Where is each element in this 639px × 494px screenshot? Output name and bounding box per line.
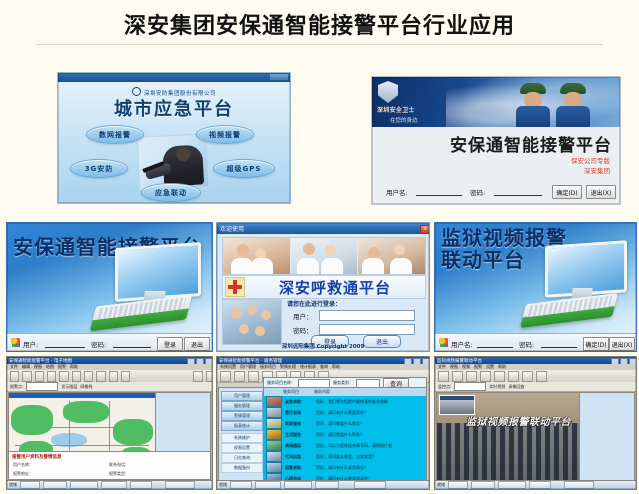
gis-titlebar: 安保通智能接警平台 - 电子地图 xyxy=(7,357,213,364)
photo-family xyxy=(222,299,282,345)
map-green-area xyxy=(113,419,153,445)
abt-splash-login-button[interactable]: 登录 xyxy=(157,337,183,351)
jv-thumbnail[interactable] xyxy=(439,395,475,415)
jv-status-text: 就绪 xyxy=(437,482,445,488)
jv-statusbar: 就绪 xyxy=(435,480,637,489)
keyboard-illustration xyxy=(520,293,618,328)
srv-titlebar: 安保通智能接警平台 - 服务管理 xyxy=(217,357,430,364)
abt-password-label: 密码: xyxy=(470,187,485,197)
toolbar-alarm-icon[interactable] xyxy=(536,371,547,382)
toolbar-open-icon[interactable] xyxy=(10,371,19,382)
panel-gis-map-app: 安保通智能接警平台 - 电子地图 文件 编辑 视图 地图 报警 帮助 报警 xyxy=(6,356,213,490)
toolbar-locate-icon[interactable] xyxy=(96,371,105,382)
abt-username-input[interactable] xyxy=(416,186,462,196)
gis-field-label: 报警点: xyxy=(10,384,23,390)
toolbar-zoom-out-icon[interactable] xyxy=(59,371,68,382)
row-desc: 您好，请问需要什么服务？ xyxy=(316,421,426,427)
title-divider xyxy=(36,44,603,45)
toolbar-layers-icon[interactable] xyxy=(109,371,118,382)
jv-point-input[interactable] xyxy=(454,382,486,391)
taskbar-item[interactable] xyxy=(130,481,152,489)
row-thumbnail xyxy=(266,396,282,407)
row-thumbnail xyxy=(266,429,282,440)
slide-root: 深安集团安保通智能接警平台行业应用 深圳安防集团股份有限公司 城市应急平台 数网… xyxy=(0,0,639,494)
toolbar-save-icon[interactable] xyxy=(452,371,463,382)
help-login-box: 请您在此进行登录： 用户： 密码： 登录 退出 xyxy=(283,299,424,343)
jail-ok-button[interactable]: 确定(D) xyxy=(583,337,609,351)
jail-exit-button[interactable]: 退出(X) xyxy=(609,337,635,351)
city-window-titlebar xyxy=(58,73,290,82)
help-footer-copyright: 深圳远阳集团 Copyright 2009 xyxy=(217,342,429,350)
abt-edition-label: 保安公司专版 xyxy=(571,155,610,165)
srv-service-list[interactable]: 服务项目 服务内容 紧急求助您好，我们将为您提供最快速的紧急救助 医疗咨询您好，… xyxy=(263,387,427,481)
panel-city-emergency-platform: 深圳安防集团股份有限公司 城市应急平台 数网报警 视频报警 3G安防 超级GPS… xyxy=(57,72,291,204)
help-user-input[interactable] xyxy=(319,310,415,321)
help-password-input[interactable] xyxy=(319,324,415,335)
srv-col-name: 服务项目 xyxy=(283,389,311,395)
row-name: 生活服务 xyxy=(285,432,313,438)
taskbar-item[interactable] xyxy=(20,481,40,489)
taskbar-item[interactable] xyxy=(70,481,98,489)
city-button-video-alarm[interactable]: 视频报警 xyxy=(196,125,254,144)
toolbar-save-icon[interactable] xyxy=(22,371,31,382)
abt-splash-user-input[interactable] xyxy=(45,338,85,348)
photo-elderly-couple xyxy=(223,238,290,274)
gis-checkbox-layers[interactable]: 显示图层 xyxy=(61,384,77,390)
abt-brand-logo: 深圳安全卫士 xyxy=(377,105,415,114)
city-button-network-alarm[interactable]: 数网报警 xyxy=(86,125,144,144)
help-brand-title: 深安呼救通平台 xyxy=(245,277,425,298)
help-brand-row: 深安呼救通平台 xyxy=(222,275,426,299)
taskbar-item[interactable] xyxy=(529,481,551,489)
toolbar-measure-icon[interactable] xyxy=(84,371,93,382)
row-thumbnail xyxy=(266,418,282,429)
jv-side-panel[interactable] xyxy=(579,392,635,482)
panel-abt-login: 深圳安全卫士 在您的身边 安保通智能接警平台 保安公司专版 深安集团 用户名: … xyxy=(371,76,621,205)
page-title: 深安集团安保通智能接警平台行业应用 xyxy=(0,8,639,40)
row-name: 亲情通话 xyxy=(285,443,313,449)
toolbar-record-icon[interactable] xyxy=(494,371,505,382)
row-name: 紧急求助 xyxy=(285,399,313,405)
gis-info-panel: 报警用户资料及警情信息 用户名称： 联系电话： 报警地址： 报警类型： xyxy=(8,451,211,480)
jv-filter-bar[interactable]: 监控点: 实时视频 录像回放 xyxy=(435,382,637,392)
srv-nav-permissions[interactable]: 权限设置 xyxy=(221,443,263,453)
jv-titlebar: 监狱视频报警联动平台 xyxy=(435,357,637,364)
gis-filter-bar[interactable]: 报警点: 显示图层 网格线 xyxy=(7,382,213,392)
taskbar-item[interactable] xyxy=(315,481,339,489)
thumbnail-caption-bar xyxy=(440,396,474,400)
taskbar-item[interactable] xyxy=(471,481,495,489)
gis-info-label-4: 报警类型： xyxy=(109,471,129,477)
city-window-controls[interactable] xyxy=(270,74,288,80)
panel-jail-video-app: 监狱视频报警联动平台 文件 视图 视频 报警 设置 帮助 监控点: 实时视频 录… xyxy=(434,356,637,490)
row-name: 医疗咨询 xyxy=(285,410,313,416)
srv-status-text: 就绪 xyxy=(219,482,227,488)
jv-field-label: 监控点: xyxy=(438,384,451,390)
guard-figure-left xyxy=(516,83,550,127)
taskbar-tray[interactable] xyxy=(564,481,594,489)
row-name: 报警求助 xyxy=(285,465,313,471)
row-desc: 您好，请问要去哪里，出发地是？ xyxy=(316,454,426,460)
row-desc: 您好，我们将为您提供最快速的紧急救助 xyxy=(316,399,426,405)
srv-window-title: 安保通智能接警平台 - 服务管理 xyxy=(219,358,282,364)
srv-statusbar: 就绪 xyxy=(217,480,430,489)
gis-window-title: 安保通智能接警平台 - 电子地图 xyxy=(9,358,72,364)
taskbar-item[interactable] xyxy=(43,481,67,489)
taskbar-item[interactable] xyxy=(230,481,252,489)
map-road xyxy=(15,427,149,428)
jail-user-input[interactable] xyxy=(477,338,513,348)
abt-banner: 深圳安全卫士 在您的身边 xyxy=(372,77,620,127)
srv-nav-backup[interactable]: 数据备份 xyxy=(221,463,263,473)
toolbar-pan-icon[interactable] xyxy=(72,371,81,382)
red-cross-icon xyxy=(225,277,245,297)
taskbar-item[interactable] xyxy=(448,481,468,489)
abt-splash-login-bar: 用户: 密码: 登录 退出 xyxy=(7,333,212,351)
city-heading: 城市应急平台 xyxy=(58,95,290,121)
jail-splash-login-bar: 用户名: 密码: 确定(D) 退出(X) xyxy=(435,333,636,351)
row-desc: 您好，请问有什么紧急情况？ xyxy=(316,465,426,471)
jail-password-input[interactable] xyxy=(541,338,577,348)
srv-col-desc: 服务内容 xyxy=(314,389,426,395)
video-crowd xyxy=(437,423,580,481)
gis-status-text: 就绪 xyxy=(9,482,17,488)
row-name: 家政服务 xyxy=(285,421,313,427)
taskbar-tray[interactable] xyxy=(165,481,195,489)
toolbar-camera-icon[interactable] xyxy=(522,371,533,382)
abt-exit-button[interactable]: 退出(X) xyxy=(586,185,616,199)
city-button-emergency-response[interactable]: 应急联动 xyxy=(141,183,201,202)
abt-splash-password-label: 密码: xyxy=(91,339,106,349)
toolbar-play-icon[interactable] xyxy=(466,371,477,382)
map-header-strip xyxy=(9,393,155,398)
row-thumbnail xyxy=(266,451,282,462)
toolbar-settings-icon[interactable] xyxy=(206,371,213,382)
taskbar-tray[interactable] xyxy=(354,481,386,489)
help-user-label: 用户： xyxy=(293,311,313,321)
flower-icon xyxy=(439,338,448,347)
srv-nav-service-mgmt[interactable]: 服务管理 xyxy=(221,401,263,411)
abt-username-label: 用户名: xyxy=(386,187,408,197)
jv-overlay-title: 监狱视频报警联动平台 xyxy=(461,413,576,428)
photo-nurses xyxy=(291,238,358,274)
srv-nav-reports[interactable]: 报表统计 xyxy=(221,421,263,431)
srv-nav-maintenance[interactable]: 系统维护 xyxy=(221,433,263,443)
toolbar-zoom-in-icon[interactable] xyxy=(47,371,56,382)
row-desc: 您好，请问有什么需要帮助？ xyxy=(316,410,426,416)
map-road xyxy=(15,445,149,446)
city-button-super-gps[interactable]: 超级GPS xyxy=(213,159,275,178)
srv-filter-label-2: 服务类别： xyxy=(333,380,353,386)
abt-group-label: 深安集团 xyxy=(584,165,610,175)
jv-video-view[interactable]: 监狱视频报警联动平台 xyxy=(436,392,581,482)
abt-login-row: 用户名: 密码: 确定(D) 退出(X) xyxy=(372,184,620,200)
abt-splash-exit-button[interactable]: 退出 xyxy=(184,337,210,351)
panel-help-platform: 欢迎使用 × 深安 xyxy=(216,222,430,352)
taskbar-item[interactable] xyxy=(284,481,312,489)
srv-filter-label: 服务项目名称： xyxy=(267,380,295,386)
close-icon[interactable]: × xyxy=(420,225,430,234)
abt-password-input[interactable] xyxy=(494,186,542,196)
toolbar-print-icon[interactable] xyxy=(35,371,44,382)
srv-nav-logs[interactable]: 日志查询 xyxy=(221,453,263,463)
jail-splash-title-line2: 联动平台 xyxy=(441,251,525,270)
photo-doctor-patient xyxy=(358,238,425,274)
banner-guards-photo xyxy=(516,80,602,127)
toolbar-edit-icon[interactable] xyxy=(234,371,245,382)
gis-info-label-1: 用户名称： xyxy=(13,462,33,468)
map-green-area xyxy=(11,405,53,435)
help-photo-strip xyxy=(222,237,426,275)
help-password-label: 密码： xyxy=(293,325,313,335)
toolbar-refresh-icon[interactable] xyxy=(193,371,202,382)
srv-nav-user-mgmt[interactable]: 用户管理 xyxy=(221,391,263,401)
abt-splash-password-input[interactable] xyxy=(113,338,151,348)
toolbar-stop-icon[interactable] xyxy=(480,371,491,382)
abt-ok-button[interactable]: 确定(D) xyxy=(552,185,582,199)
taskbar-item[interactable] xyxy=(101,481,127,489)
guard-figure-right xyxy=(556,83,590,127)
row-thumbnail xyxy=(266,462,282,473)
gis-info-label-3: 报警地址： xyxy=(13,471,33,477)
help-window-title: 欢迎使用 xyxy=(220,224,244,233)
city-button-3g-security[interactable]: 3G安防 xyxy=(70,159,128,178)
taskbar-item[interactable] xyxy=(255,481,281,489)
abt-system-name: 安保通智能接警平台 xyxy=(450,131,612,156)
srv-nav-alarm-mgmt[interactable]: 警情管理 xyxy=(221,411,263,421)
keyboard-illustration xyxy=(90,295,192,332)
row-thumbnail xyxy=(266,440,282,451)
row-name: 代叫出租 xyxy=(285,454,313,460)
panel-service-list-app: 安保通智能接警平台 - 服务管理 系统设置 用户管理 服务项目 警情处理 统计报… xyxy=(216,356,430,490)
gis-checkbox-grid[interactable]: 网格线 xyxy=(80,384,92,390)
toolbar-alarm-icon[interactable] xyxy=(121,371,130,382)
jv-checkbox-playback[interactable]: 录像回放 xyxy=(508,384,524,390)
jail-user-label: 用户名: xyxy=(451,339,473,349)
gis-info-label-2: 联系电话： xyxy=(109,462,129,468)
toolbar-new-icon[interactable] xyxy=(220,371,231,382)
jv-window-title: 监狱视频报警联动平台 xyxy=(437,358,482,364)
toolbar-delete-icon[interactable] xyxy=(248,371,259,382)
jail-password-label: 密码: xyxy=(519,339,534,349)
taskbar-item[interactable] xyxy=(498,481,526,489)
gis-info-title: 报警用户资料及警情信息 xyxy=(12,454,62,460)
abt-splash-user-label: 用户: xyxy=(23,339,38,349)
row-desc: 您好，请问需要什么帮助？ xyxy=(316,432,426,438)
panel-jail-splash: 监狱视频报警 联动平台 用户名: 密码: 确定(D) 退出(X) xyxy=(434,222,637,352)
jv-checkbox-live[interactable]: 实时视频 xyxy=(489,384,505,390)
gis-statusbar: 就绪 xyxy=(7,480,213,489)
help-window-titlebar: 欢迎使用 × xyxy=(217,223,430,234)
toolbar-open-icon[interactable] xyxy=(438,371,449,382)
row-thumbnail xyxy=(266,407,282,418)
toolbar-snapshot-icon[interactable] xyxy=(508,371,519,382)
police-badge-icon xyxy=(378,81,398,103)
help-login-prompt: 请您在此进行登录： xyxy=(287,299,341,308)
gis-point-input[interactable] xyxy=(26,382,58,391)
panel-abt-splash: 安保通智能接警平台 用户: 密码: 登录 退出 xyxy=(6,222,213,352)
srv-left-nav[interactable]: 用户管理 服务管理 警情管理 报表统计 系统维护 权限设置 日志查询 数据备份 xyxy=(218,387,264,481)
abt-brand-slogan: 在您的身边 xyxy=(390,116,418,124)
flower-icon xyxy=(11,338,20,347)
row-desc: 您好，可以为您转接亲情号码，请稍候片刻 xyxy=(316,443,426,449)
